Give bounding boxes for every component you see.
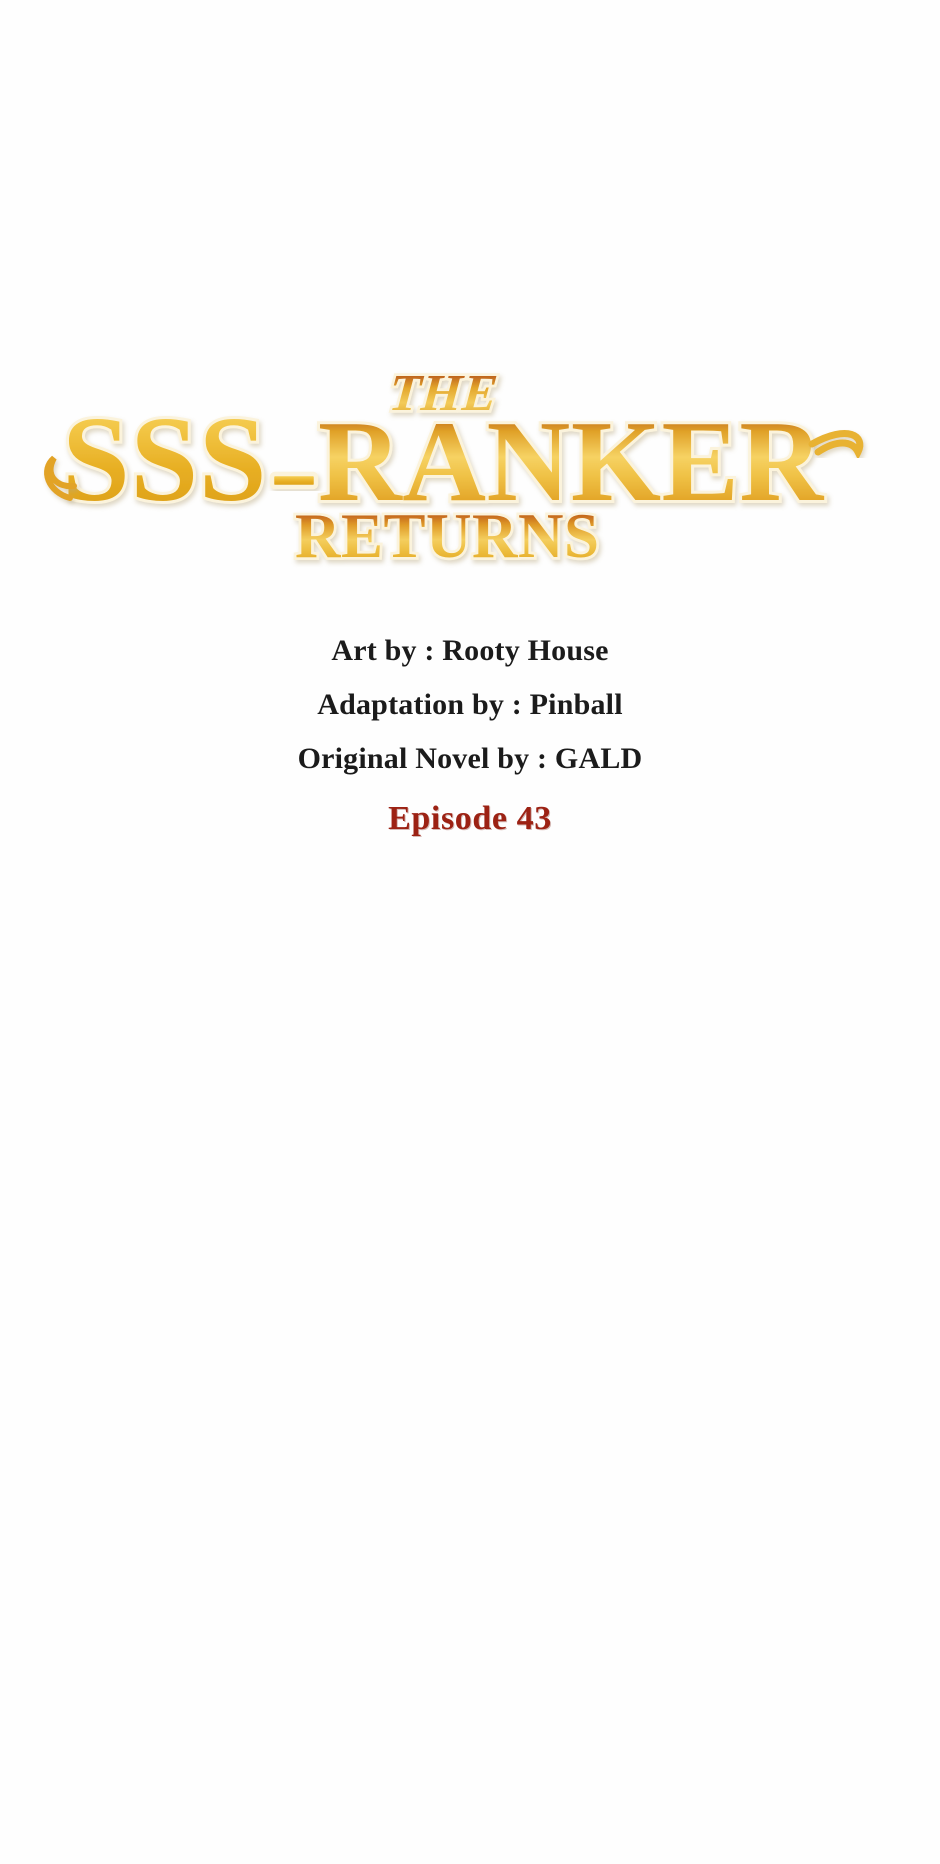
- episode-block: Episode 43: [0, 800, 940, 838]
- credits-block: Art by : Rooty House Adaptation by : Pin…: [0, 624, 940, 786]
- credit-line-adaptation-by: Adaptation by : Pinball: [0, 678, 940, 732]
- title-logo: THE SSS RANKER RETURNS: [0, 352, 940, 572]
- svg-text:RETURNS: RETURNS: [295, 501, 600, 571]
- svg-text:SSS: SSS: [62, 392, 267, 527]
- logo-separator-hyphen: [272, 474, 316, 487]
- title-logo-artwork: THE SSS RANKER RETURNS: [0, 352, 940, 572]
- credit-line-original-novel-by: Original Novel by : GALD: [0, 732, 940, 786]
- logo-word-sss: SSS: [62, 392, 267, 527]
- credit-line-art-by: Art by : Rooty House: [0, 624, 940, 678]
- logo-word-returns: RETURNS: [295, 501, 600, 571]
- episode-label: Episode 43: [388, 800, 552, 837]
